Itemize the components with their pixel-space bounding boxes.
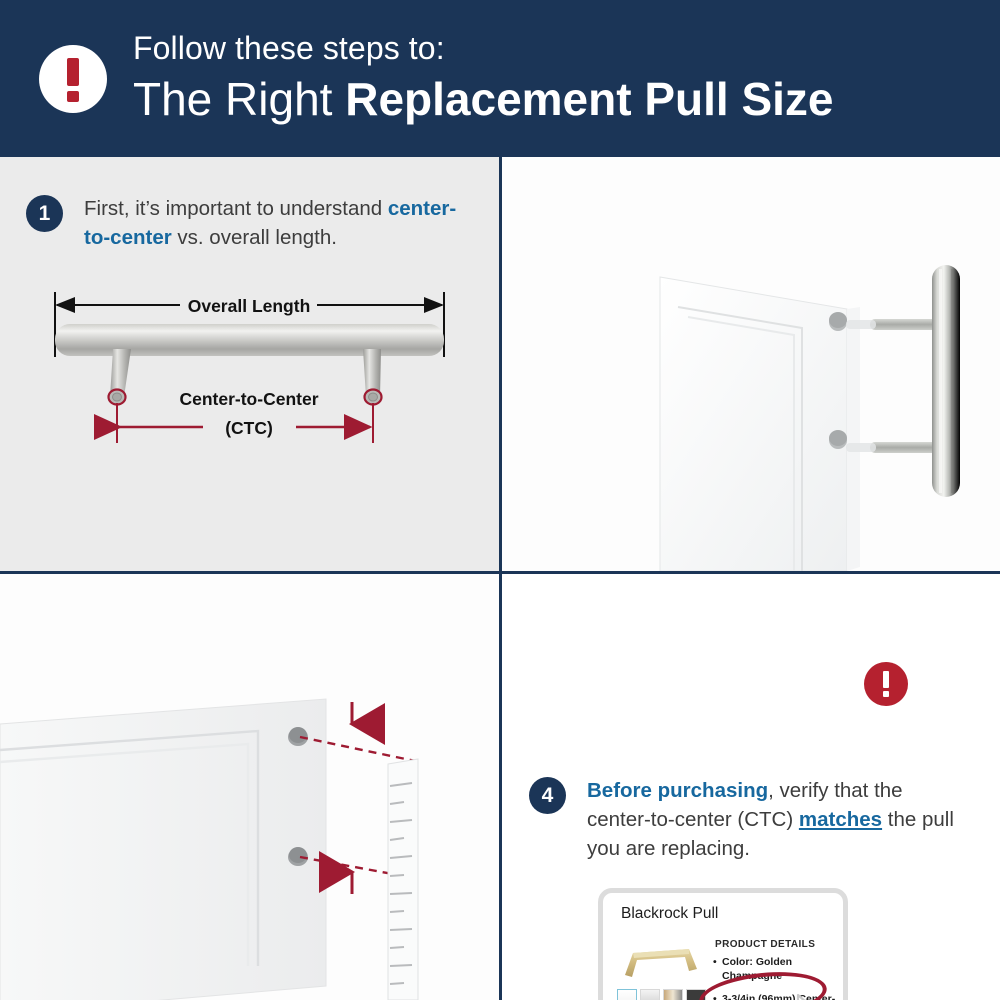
svg-text:Center-to-Center: Center-to-Center bbox=[179, 389, 318, 409]
mouse-cursor-icon bbox=[795, 993, 831, 1000]
step-panel-4: 4 Before purchasing, verify that the cen… bbox=[502, 574, 1000, 1000]
step-4-text: Before purchasing, verify that the cente… bbox=[587, 776, 969, 863]
svg-text:Overall Length: Overall Length bbox=[188, 296, 311, 316]
product-thumbnails[interactable] bbox=[617, 989, 706, 1000]
header-title-light: The Right bbox=[133, 73, 345, 125]
header-title: The Right Replacement Pull Size bbox=[133, 72, 834, 127]
header-banner: Follow these steps to: The Right Replace… bbox=[0, 0, 1000, 157]
step-panel-2: 2 If you are replacing a pull, start by … bbox=[502, 157, 1000, 571]
svg-text:(CTC): (CTC) bbox=[225, 418, 273, 438]
header-subtitle: Follow these steps to: bbox=[133, 30, 834, 67]
exclamation-icon bbox=[864, 662, 908, 706]
product-title: Blackrock Pull bbox=[621, 905, 718, 923]
header-text: Follow these steps to: The Right Replace… bbox=[133, 30, 834, 127]
step-4-text-part-3: matches bbox=[799, 808, 882, 831]
monitor-screen: Blackrock Pull bbox=[598, 888, 848, 1000]
thumbnail-3[interactable] bbox=[663, 989, 683, 1000]
bar-pull-diagram: Overall Length Center-to-Center (CTC) bbox=[0, 157, 499, 571]
exclamation-icon bbox=[39, 45, 107, 113]
cabinet-door-removal-illustration bbox=[502, 157, 1000, 571]
measure-screw-holes-illustration bbox=[0, 574, 499, 1000]
product-image bbox=[615, 927, 707, 987]
product-details-heading: PRODUCT DETAILS bbox=[715, 939, 815, 950]
step-panel-3: 3 Measure the distance between the cente… bbox=[0, 574, 499, 1000]
infographic-page: Follow these steps to: The Right Replace… bbox=[0, 0, 1000, 1000]
steps-grid: 1 First, it’s important to understand ce… bbox=[0, 157, 1000, 1000]
thumbnail-2[interactable] bbox=[640, 989, 660, 1000]
product-page-monitor: Blackrock Pull bbox=[598, 888, 848, 1000]
step-4-header: 4 Before purchasing, verify that the cen… bbox=[529, 776, 969, 863]
thumbnail-1[interactable] bbox=[617, 989, 637, 1000]
header-title-bold: Replacement Pull Size bbox=[345, 73, 833, 125]
step-panel-1: 1 First, it’s important to understand ce… bbox=[0, 157, 499, 571]
step-4-number-badge: 4 bbox=[529, 777, 566, 814]
step-4-text-part-1: Before purchasing bbox=[587, 779, 768, 802]
